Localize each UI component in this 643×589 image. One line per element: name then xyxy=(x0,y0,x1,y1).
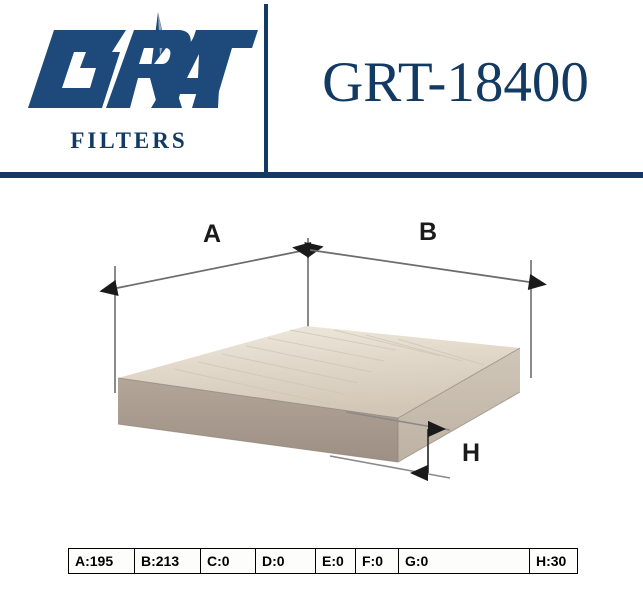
dimension-a-label: A xyxy=(203,220,221,248)
dimension-b: B xyxy=(310,218,529,282)
spec-cell-e: E:0 xyxy=(316,549,356,573)
product-technical-drawing: A B xyxy=(0,178,643,530)
dimension-b-label: B xyxy=(419,218,437,246)
part-number: GRT-18400 xyxy=(268,0,643,172)
spec-cell-b: B:213 xyxy=(135,549,201,573)
grat-logo xyxy=(8,8,258,126)
spec-cell-g: G:0 xyxy=(399,549,530,573)
dimension-a: A xyxy=(117,220,306,288)
filter-body xyxy=(118,326,520,462)
dimension-h-label: H xyxy=(462,439,480,467)
spec-cell-h: H:30 xyxy=(530,549,577,573)
dimension-spec-table: A:195B:213C:0D:0E:0F:0G:0H:30 xyxy=(68,548,578,574)
brand-tagline: FILTERS xyxy=(0,128,258,154)
spec-cell-c: C:0 xyxy=(201,549,256,573)
brand-block: FILTERS xyxy=(0,0,264,172)
spec-cell-a: A:195 xyxy=(69,549,135,573)
spec-cell-d: D:0 xyxy=(256,549,316,573)
spec-cell-f: F:0 xyxy=(356,549,399,573)
header: FILTERS GRT-18400 xyxy=(0,0,643,178)
